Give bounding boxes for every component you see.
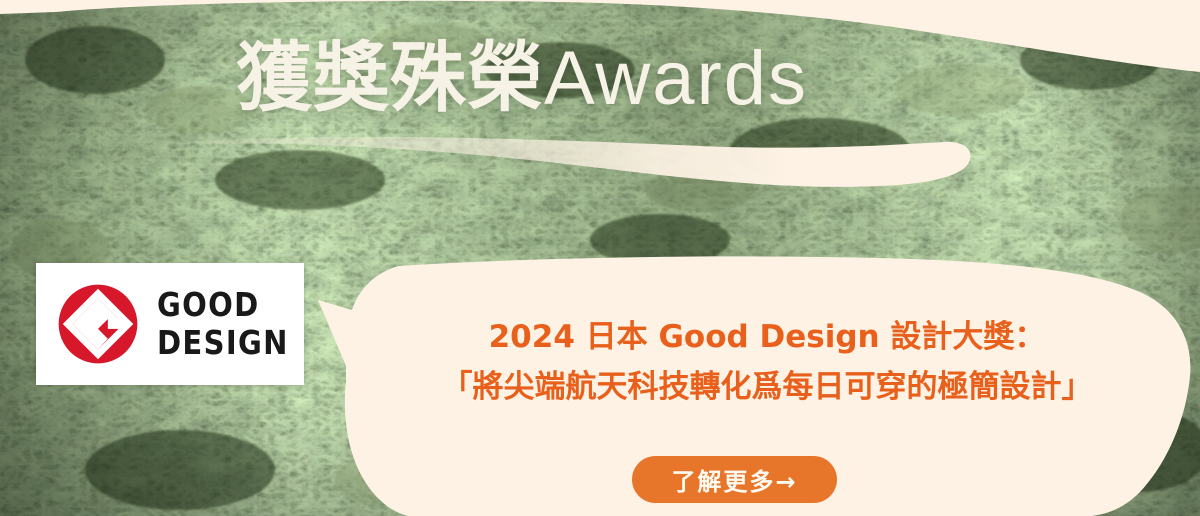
cream-swoosh — [150, 137, 971, 187]
headline-cjk: 獲獎殊榮 — [236, 33, 544, 122]
awards-banner: 獲獎殊榮Awards GOOD DESIGN 2024 日本 Good Desi… — [0, 0, 1200, 516]
good-design-line-1: GOOD — [157, 286, 289, 324]
headline-latin: Awards — [544, 36, 808, 121]
good-design-award-badge: GOOD DESIGN — [36, 263, 304, 385]
callout-line-2: 「將尖端航天科技轉化爲每日可穿的極簡設計」 — [352, 362, 1182, 412]
page-title: 獲獎殊榮Awards — [236, 34, 808, 123]
good-design-wordmark: GOOD DESIGN — [157, 286, 289, 362]
good-design-g-mark-icon — [57, 283, 139, 365]
learn-more-button[interactable]: 了解更多→ — [632, 456, 837, 503]
good-design-line-2: DESIGN — [157, 324, 289, 362]
award-callout-text: 2024 日本 Good Design 設計大獎： 「將尖端航天科技轉化爲每日可… — [352, 312, 1182, 412]
callout-line-1: 2024 日本 Good Design 設計大獎： — [352, 312, 1182, 362]
